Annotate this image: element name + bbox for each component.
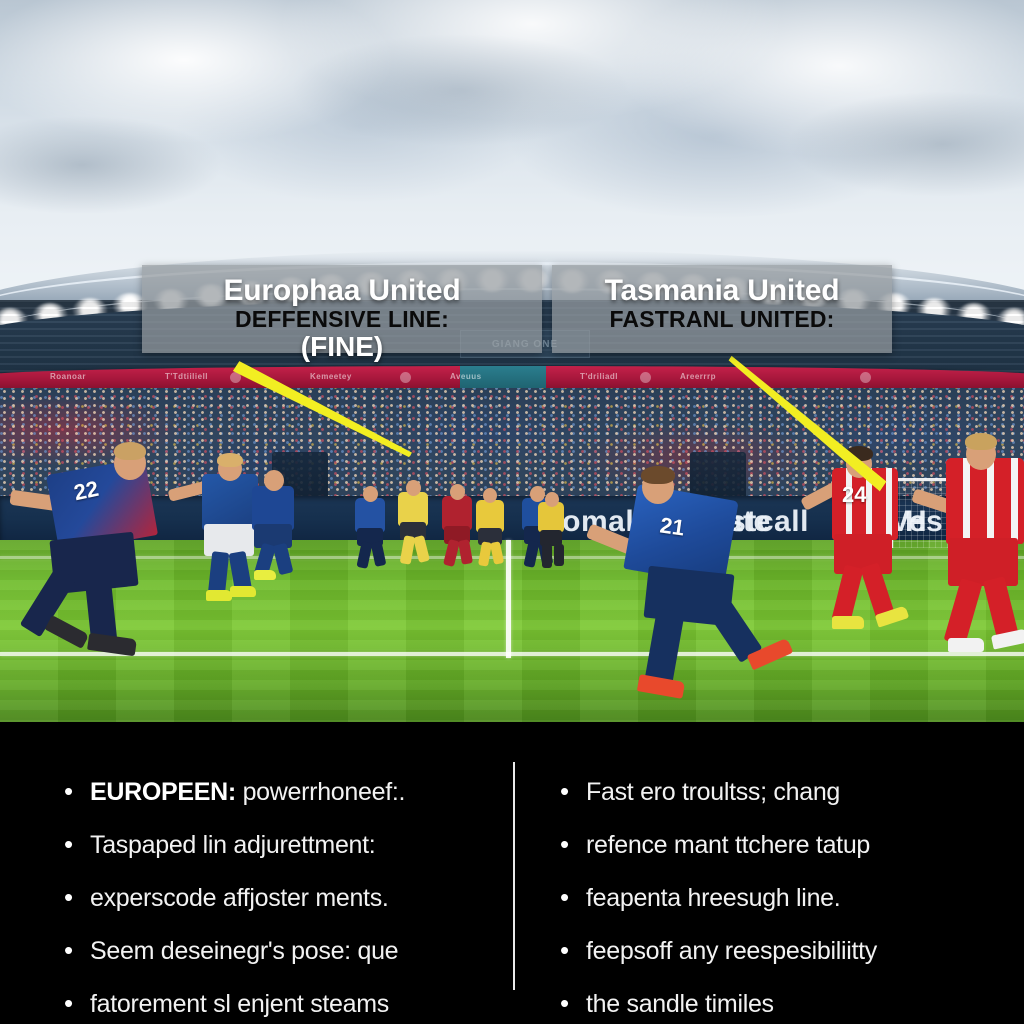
banner-sponsor-text: Roanoar xyxy=(50,372,86,381)
banner-sponsor-text: Areerrrp xyxy=(680,372,716,381)
player-head xyxy=(483,488,497,503)
player-number: 22 xyxy=(72,476,101,507)
right-team-name: Tasmania United xyxy=(564,275,880,307)
left-team-name: Europhaa United xyxy=(154,275,530,307)
caption-bullet-text: fatorement sl enjent steams xyxy=(90,990,389,1018)
left-team-state: (FINE) xyxy=(154,332,530,363)
player-hair xyxy=(114,442,146,460)
right-team-subtitle: FASTRANL UNITED: xyxy=(564,307,880,332)
caption-panel: EUROPEEN: powerrhoneef:.Taspaped lin adj… xyxy=(0,722,1024,1024)
caption-bullet-item: fatorement sl enjent steams xyxy=(62,992,498,1017)
player-boot-front xyxy=(87,633,137,657)
caption-bullet-text: Taspaped lin adjurettment: xyxy=(90,831,375,859)
player-boot-back xyxy=(45,615,90,649)
banner-sponsor-logo xyxy=(640,372,651,383)
banner-sponsor-text: Kemeetey xyxy=(310,372,352,381)
player-hair xyxy=(965,433,997,450)
player-head xyxy=(363,486,378,502)
player-head xyxy=(545,492,559,507)
player-foreground-blue-21: 21 xyxy=(590,470,790,710)
caption-bullet-item: Seem deseinegr's pose: que xyxy=(62,939,498,964)
caption-bullet-item: EUROPEEN: powerrhoneef:. xyxy=(62,780,498,805)
player-shirt xyxy=(355,498,385,532)
caption-columns: EUROPEEN: powerrhoneef:.Taspaped lin adj… xyxy=(0,722,1024,1024)
caption-bullet-text: the sandle timiles xyxy=(586,990,774,1018)
player-shirt xyxy=(946,458,1024,544)
left-team-label-box[interactable]: Europhaa United DEFFENSIVE LINE: (FINE) xyxy=(142,265,542,353)
right-team-label-box[interactable]: Tasmania United FASTRANL UNITED: xyxy=(552,265,892,353)
banner-sponsor-text: T'Tdtiiliell xyxy=(165,372,208,381)
player-boot-a xyxy=(206,590,232,601)
caption-bullet-text: Fast ero troultss; chang xyxy=(586,778,840,806)
caption-bullet-item: feepsoff any reespesibiliitty xyxy=(558,939,1008,964)
banner-sponsor-logo xyxy=(400,372,411,383)
caption-bullet-item: Taspaped lin adjurettment: xyxy=(62,833,498,858)
player-head xyxy=(450,484,465,500)
player-head xyxy=(406,480,421,496)
player-shirt xyxy=(398,492,428,526)
caption-bullet-text: feapenta hreesugh line. xyxy=(586,884,840,912)
player-shorts xyxy=(948,538,1018,586)
caption-bullet-item: refence mant ttchere tatup xyxy=(558,833,1008,858)
player-leg-a xyxy=(944,578,983,646)
caption-bullet-text: refence mant ttchere tatup xyxy=(586,831,870,859)
player-blue-far-left xyxy=(236,470,316,580)
banner-sponsor-text: T'driliadl xyxy=(580,372,618,381)
player-referee xyxy=(530,492,574,570)
caption-bullet-item: Fast ero troultss; chang xyxy=(558,780,1008,805)
player-number: 21 xyxy=(658,512,686,541)
stadium-photo: RoanoarT'TdtiiliellKemeeteyAveuusT'drili… xyxy=(0,0,1024,722)
caption-bullet-text: feepsoff any reespesibiliitty xyxy=(586,937,877,965)
player-mid-cluster-4 xyxy=(466,488,518,570)
player-boot-b xyxy=(230,586,256,597)
player-boot-a xyxy=(254,570,276,580)
left-bullet-list: EUROPEEN: powerrhoneef:.Taspaped lin adj… xyxy=(62,780,498,1017)
player-hair xyxy=(217,453,243,467)
player-boot-a xyxy=(948,638,984,652)
screenshot-root: RoanoarT'TdtiiliellKemeeteyAveuusT'drili… xyxy=(0,0,1024,1024)
caption-right-column: Fast ero troultss; changrefence mant ttc… xyxy=(514,722,1024,1024)
player-leg-a xyxy=(542,544,552,568)
player-leg-b xyxy=(554,544,564,566)
caption-column-divider xyxy=(513,762,515,990)
caption-bullet-text: experscode affjoster ments. xyxy=(90,884,389,912)
caption-bullet-item: experscode affjoster ments. xyxy=(62,886,498,911)
caption-bullet-item: the sandle timiles xyxy=(558,992,1008,1017)
caption-bullet-item: feapenta hreesugh line. xyxy=(558,886,1008,911)
caption-left-column: EUROPEEN: powerrhoneef:.Taspaped lin adj… xyxy=(0,722,514,1024)
player-leg-b xyxy=(413,535,430,563)
caption-bullet-text: Seem deseinegr's pose: que xyxy=(90,937,398,965)
caption-bullet-lead: EUROPEEN: xyxy=(90,778,236,806)
player-leg-b xyxy=(490,541,504,565)
banner-sponsor-text: Aveuus xyxy=(450,372,482,381)
player-red-foreground-right xyxy=(930,440,1024,660)
player-head xyxy=(264,470,284,491)
player-leg-b xyxy=(371,541,387,567)
caption-bullet-text: powerrhoneef:. xyxy=(236,778,405,806)
player-number: 24 xyxy=(842,482,866,508)
right-bullet-list: Fast ero troultss; changrefence mant ttc… xyxy=(558,780,1008,1017)
banner-sponsor-logo xyxy=(860,372,871,383)
player-boot-a xyxy=(832,616,864,629)
player-hair xyxy=(641,466,675,484)
left-team-subtitle: DEFFENSIVE LINE: xyxy=(154,307,530,332)
player-boot-front xyxy=(637,674,685,699)
